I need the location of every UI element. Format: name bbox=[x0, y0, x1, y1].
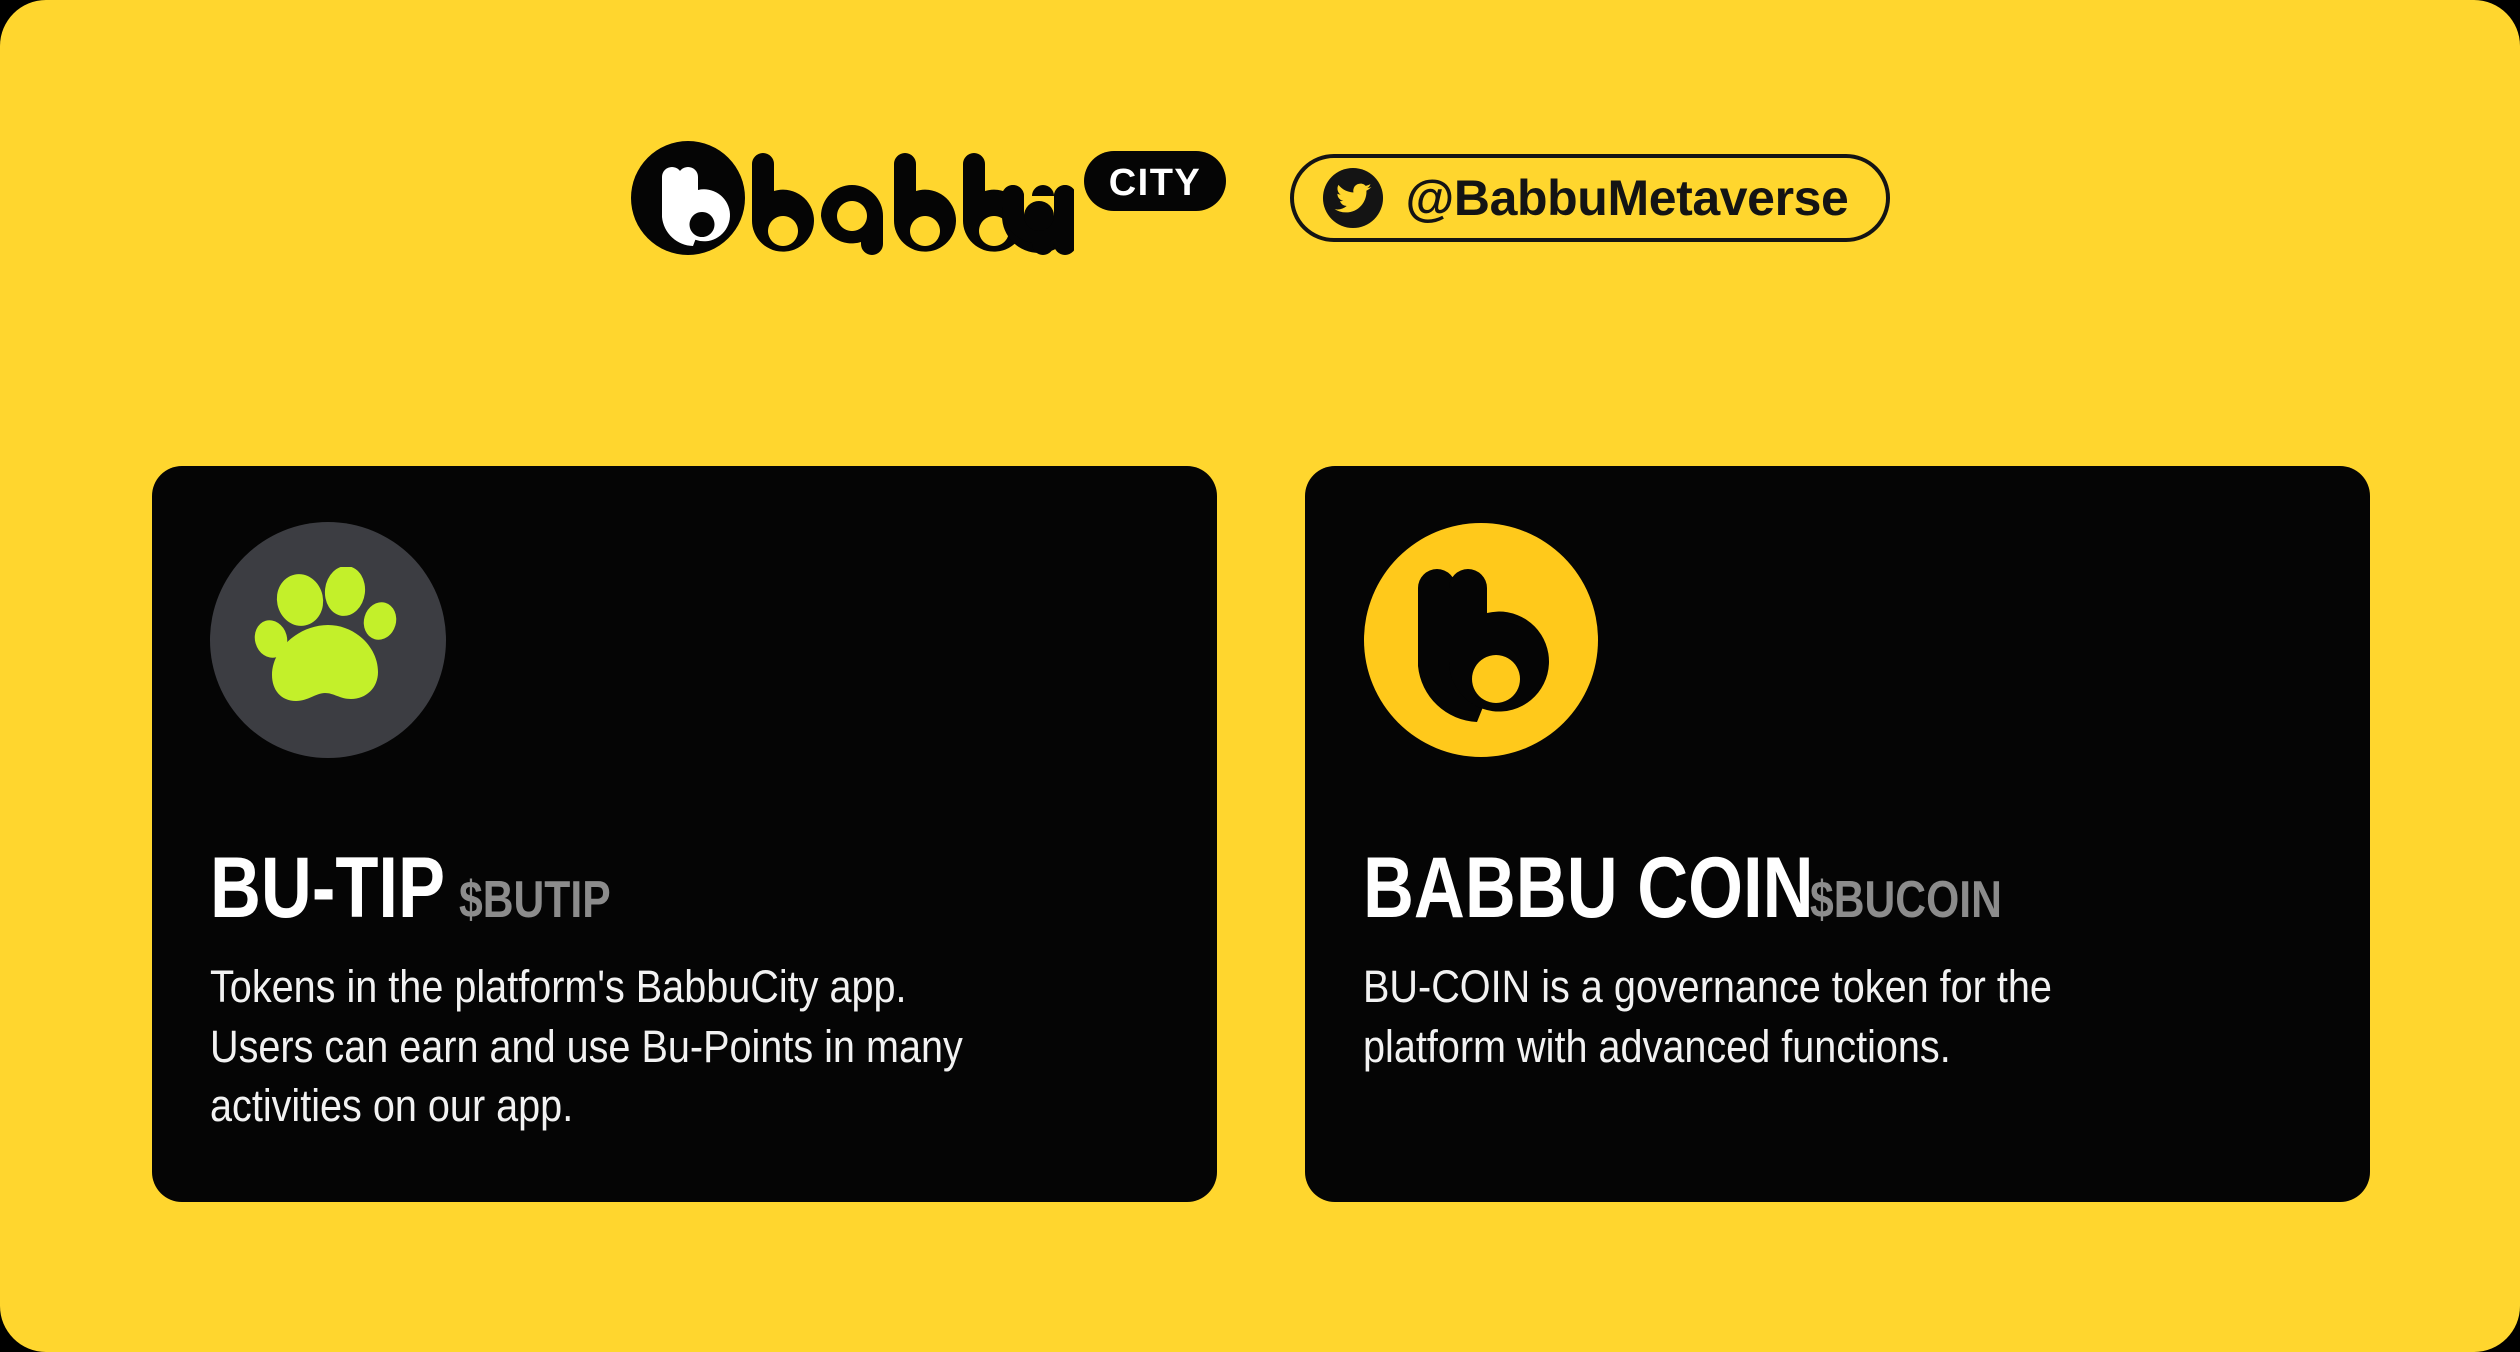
card-title-row: BU-TIP $BUTIP bbox=[210, 850, 1159, 927]
card-description: Tokens in the platform's BabbuCity app. … bbox=[210, 957, 1045, 1135]
card-ticker: $BUCOIN bbox=[1810, 877, 2002, 924]
paw-print-icon bbox=[253, 567, 403, 713]
paw-print-icon-badge bbox=[210, 522, 446, 758]
twitter-handle-pill[interactable]: @BabbuMetaverse bbox=[1290, 154, 1891, 242]
city-badge: CITY bbox=[1084, 151, 1226, 211]
card-title: BU-TIP bbox=[210, 850, 445, 927]
card-title: BABBU COIN bbox=[1363, 850, 1814, 927]
city-badge-label: CITY bbox=[1108, 162, 1201, 204]
brand-lockup[interactable]: CITY bbox=[630, 143, 1226, 253]
card-title-row: BABBU COIN $BUCOIN bbox=[1363, 850, 2312, 927]
token-card-bucoin[interactable]: BABBU COIN $BUCOIN BU-COIN is a governan… bbox=[1305, 466, 2370, 1202]
token-cards: BU-TIP $BUTIP Tokens in the platform's B… bbox=[152, 466, 2370, 1202]
card-ticker: $BUTIP bbox=[459, 877, 611, 924]
twitter-handle-text: @BabbuMetaverse bbox=[1406, 169, 1849, 227]
brand-wordmark bbox=[744, 140, 1074, 256]
token-card-butip[interactable]: BU-TIP $BUTIP Tokens in the platform's B… bbox=[152, 466, 1217, 1202]
card-description: BU-COIN is a governance token for the pl… bbox=[1363, 957, 2198, 1076]
babbu-coin-icon bbox=[1363, 522, 1599, 758]
babbu-b-logomark-icon bbox=[630, 140, 746, 256]
babbu-coin-icon-badge bbox=[1363, 522, 1599, 758]
poster-frame: CITY @BabbuMetaverse bbox=[0, 0, 2520, 1352]
header: CITY @BabbuMetaverse bbox=[0, 128, 2520, 268]
twitter-bird-icon bbox=[1322, 167, 1384, 229]
